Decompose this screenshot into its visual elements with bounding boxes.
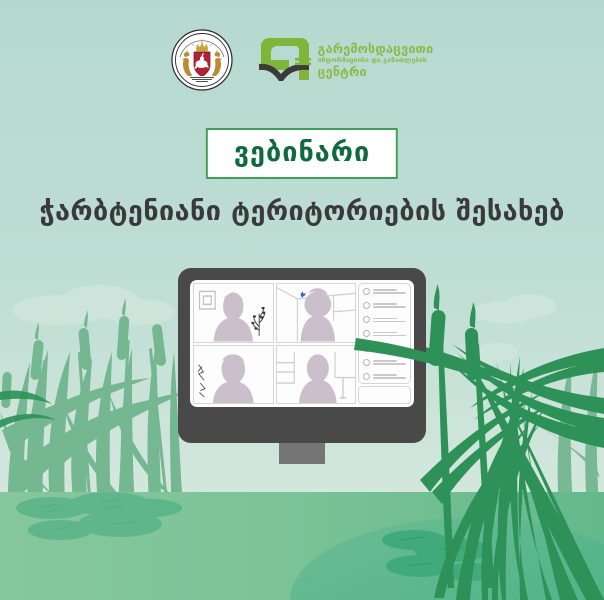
participant-row-6[interactable]: [363, 359, 406, 366]
sidebar-footer-panel[interactable]: [358, 386, 411, 404]
participant-row-4[interactable]: [363, 330, 406, 337]
org-name-line-1: გარემოსდაცვითი: [318, 42, 434, 55]
monitor-bezel: [178, 268, 426, 443]
participant-avatar-icon: [363, 316, 370, 323]
participant-row-3[interactable]: [363, 316, 406, 323]
tile-3-graphic: [194, 346, 273, 404]
participant-name-lines: [373, 374, 406, 379]
participant-name-lines: [373, 346, 406, 351]
participant-name-lines: [373, 318, 406, 323]
participant-row-5[interactable]: [363, 345, 406, 352]
organization-logo-text: გარემოსდაცვითი ინფორმაციისა და განათლები…: [318, 42, 434, 78]
tile-4-graphic: [277, 346, 356, 404]
video-tile-participant-3[interactable]: [193, 345, 274, 405]
participant-avatar-icon: [363, 345, 370, 352]
participant-row-2[interactable]: [363, 302, 406, 309]
participant-avatar-icon: [363, 302, 370, 309]
participant-row-1[interactable]: [363, 288, 406, 295]
participant-row-7[interactable]: [363, 373, 406, 380]
participant-name-lines: [373, 289, 406, 294]
participant-avatar-icon: [363, 288, 370, 295]
video-tile-grid: [193, 283, 356, 404]
webinar-poster: გარემოსდაცვითი ინფორმაციისა და განათლები…: [0, 0, 604, 600]
video-tile-participant-4[interactable]: [276, 345, 357, 405]
tile-2-graphic: [277, 284, 356, 342]
monitor-stand-neck: [279, 441, 325, 464]
video-call-screen: [190, 280, 414, 407]
org-name-line-3: ცენტრი: [318, 65, 434, 78]
webinar-title-box: ვებინარი: [206, 128, 398, 179]
org-name-line-2: ინფორმაციისა და განათლების: [318, 57, 434, 64]
monitor: [178, 268, 426, 464]
page-title: ვებინარი: [234, 139, 370, 166]
tile-1-graphic: [194, 284, 273, 342]
page-subtitle: ჭარბტენიანი ტერიტორიების შესახებ: [0, 196, 604, 227]
header-logo-row: გარემოსდაცვითი ინფორმაციისა და განათლები…: [0, 24, 604, 96]
video-call-sidebar: [358, 283, 411, 404]
participant-avatar-icon: [363, 359, 370, 366]
participant-name-lines: [373, 303, 406, 308]
video-tile-participant-1[interactable]: [193, 283, 274, 343]
participant-list[interactable]: [358, 283, 411, 384]
georgia-coat-of-arms-emblem: [171, 29, 233, 91]
organization-logo: გარემოსდაცვითი ინფორმაციისა და განათლები…: [259, 34, 434, 86]
participant-name-lines: [373, 360, 406, 365]
participant-avatar-icon: [363, 373, 370, 380]
video-tile-participant-2[interactable]: [276, 283, 357, 343]
eiec-logo-mark: [259, 34, 311, 86]
participant-name-lines: [373, 332, 406, 337]
participant-avatar-icon: [363, 330, 370, 337]
